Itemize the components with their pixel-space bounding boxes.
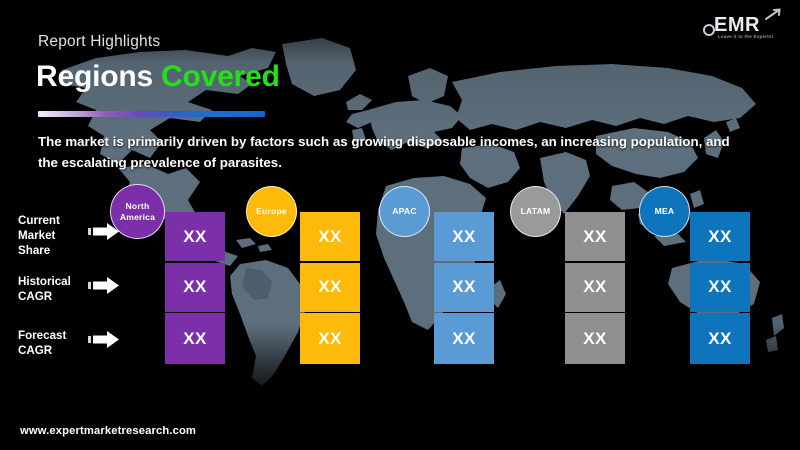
metric-label-historical-cagr: Historical CAGR [18, 274, 90, 304]
bar-north-america-forecast-cagr[interactable]: XX [165, 313, 225, 364]
slide-canvas: EMR Leave it to the Experts! Report High… [0, 0, 800, 450]
bar-north-america-historical-cagr[interactable]: XX [165, 263, 225, 312]
logo-mark: EMR [714, 14, 760, 36]
arrow-right-icon [88, 276, 120, 295]
bar-north-america-current-market-share[interactable]: XX [165, 212, 225, 261]
arrow-right-icon [88, 330, 120, 349]
region-bubble-europe[interactable]: Europe [246, 186, 297, 237]
metric-labels: Current Market Share Historical CAGR For… [18, 196, 122, 366]
region-bubble-north-america[interactable]: North America [110, 184, 165, 239]
bar-apac-historical-cagr[interactable]: XX [434, 263, 494, 312]
bar-europe-current-market-share[interactable]: XX [300, 212, 360, 261]
metric-label-forecast-cagr: Forecast CAGR [18, 328, 90, 358]
region-bubble-apac[interactable]: APAC [379, 186, 430, 237]
region-bars-mea: XX XX XX [690, 212, 750, 364]
bar-europe-forecast-cagr[interactable]: XX [300, 313, 360, 364]
page-title-plain: Regions [36, 60, 153, 93]
title-underline-bar [38, 111, 265, 117]
footer-url[interactable]: www.expertmarketresearch.com [20, 425, 196, 437]
region-bars-europe: XX XX XX [300, 212, 360, 364]
page-title-accent: Covered [161, 60, 280, 93]
region-bubble-mea[interactable]: MEA [639, 186, 690, 237]
metric-label-current-market-share: Current Market Share [18, 213, 90, 258]
bar-mea-current-market-share[interactable]: XX [690, 212, 750, 261]
bar-latam-historical-cagr[interactable]: XX [565, 263, 625, 312]
page-title: Regions Covered [36, 62, 280, 92]
bar-apac-current-market-share[interactable]: XX [434, 212, 494, 261]
logo-ring-icon [704, 25, 714, 35]
region-bars-apac: XX XX XX [434, 212, 494, 364]
region-bars-north-america: XX XX XX [165, 212, 225, 364]
bar-latam-forecast-cagr[interactable]: XX [565, 313, 625, 364]
bar-mea-forecast-cagr[interactable]: XX [690, 313, 750, 364]
bar-latam-current-market-share[interactable]: XX [565, 212, 625, 261]
bar-apac-forecast-cagr[interactable]: XX [434, 313, 494, 364]
logo-arrow-icon [766, 10, 780, 19]
region-bubble-latam[interactable]: LATAM [510, 186, 561, 237]
emr-logo: EMR Leave it to the Experts! [700, 6, 786, 42]
lede-paragraph: The market is primarily driven by factor… [38, 131, 744, 174]
bar-mea-historical-cagr[interactable]: XX [690, 263, 750, 312]
logo-tagline: Leave it to the Experts! [718, 34, 774, 39]
kicker-text: Report Highlights [38, 33, 160, 51]
region-bars-latam: XX XX XX [565, 212, 625, 364]
bar-europe-historical-cagr[interactable]: XX [300, 263, 360, 312]
